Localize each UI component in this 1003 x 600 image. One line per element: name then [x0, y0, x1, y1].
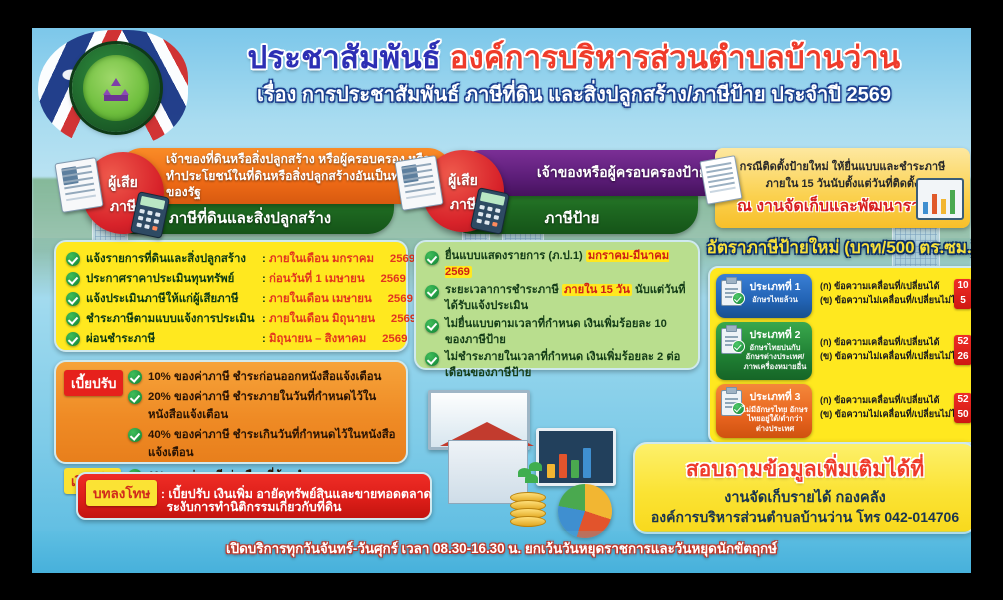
rate-label: (ก) ข้อความเคลื่อนที่/เปลี่ยนได้ [820, 280, 940, 294]
rate-value: 50 [954, 408, 971, 423]
new-sign-notice-box: กรณีติดตั้งป้ายใหม่ ให้ยื่นแบบและชำระภาษ… [715, 148, 970, 228]
schedule-year: 2569 [378, 313, 416, 325]
rate-rows-type-3: (ก) ข้อความเคลื่อนที่/เปลี่ยนได้ (ข) ข้อ… [820, 394, 970, 421]
contact-phone-line: องค์การบริหารส่วนตำบลบ้านว่าน โทร 042-01… [635, 507, 971, 529]
penalty-text: 20% ของค่าภาษี ชำระภายในวันที่กำหนดไว้ใน… [148, 388, 398, 424]
rate-item: (ก) ข้อความเคลื่อนที่/เปลี่ยนได้ [820, 394, 970, 408]
penalty-text: 40% ของค่าภาษี ชำระเกินวันที่กำหนดไว้ในห… [148, 426, 398, 462]
schedule-year: 2569 [375, 293, 413, 305]
rate-value: 26 [954, 350, 971, 365]
sign-rule-pre: ยื่นแบบแสดงรายการ (ภ.ป.1) [445, 250, 586, 262]
list-item: ยื่นแบบแสดงรายการ (ภ.ป.1) มกราคม-มีนาคม … [425, 249, 689, 281]
check-icon [128, 390, 142, 404]
schedule-year: 2569 [369, 333, 407, 345]
list-item: ผ่อนชำระภาษี: มิถุนายน – สิงหาคม 2569 [66, 330, 396, 348]
contact-department: งานจัดเก็บรายได้ กองคลัง [635, 486, 971, 509]
schedule-when: ภายในเดือน มกราคม [269, 253, 374, 265]
check-icon [66, 292, 80, 306]
rate-item: (ข) ข้อความไม่เคลื่อนที่/เปลี่ยนไม่ได้ [820, 408, 970, 422]
sign-type-sub: อักษรไทยปนกับอักษรต่างประเทศ/ภาพเครื่องห… [742, 343, 808, 371]
title-part-1: ประชาสัมพันธ์ [248, 40, 441, 75]
poster-canvas: ประชาสัมพันธ์ องค์การบริหารส่วนตำบลบ้านว… [32, 28, 971, 573]
new-sign-notice-line1: กรณีติดตั้งป้ายใหม่ ให้ยื่นแบบและชำระภาษ… [723, 157, 962, 175]
rate-item: (ข) ข้อความไม่เคลื่อนที่/เปลี่ยนไม่ได้ [820, 294, 970, 308]
rate-item: (ก) ข้อความเคลื่อนที่/เปลี่ยนได้ [820, 280, 970, 294]
sign-tax-badge-group: ภาษีป้าย เจ้าของหรือผู้ครอบครองป้าย ผู้เ… [390, 146, 700, 238]
rate-values-type-3: 52 50 [954, 393, 971, 423]
schedule-year: 2569 [368, 273, 406, 285]
document-icon [54, 157, 103, 213]
rate-values-type-2: 52 26 [954, 335, 971, 365]
rate-value: 52 [954, 393, 971, 408]
schedule-when: ภายในเดือน มิถุนายน [269, 313, 375, 325]
sign-tax-description: เจ้าของหรือผู้ครอบครองป้าย [537, 163, 707, 182]
sign-type-title: ประเภทที่ 2 [742, 326, 808, 343]
rate-label: (ก) ข้อความเคลื่อนที่/เปลี่ยนได้ [820, 336, 940, 350]
coins-icon [510, 492, 546, 526]
check-icon [425, 251, 439, 265]
list-item: 40% ของค่าภาษี ชำระเกินวันที่กำหนดไว้ในห… [128, 426, 398, 462]
header: ประชาสัมพันธ์ องค์การบริหารส่วนตำบลบ้านว… [32, 28, 971, 146]
page-subtitle: เรื่อง การประชาสัมพันธ์ ภาษีที่ดิน และสิ… [184, 78, 964, 110]
document-icon [394, 155, 443, 211]
contact-heading: สอบถามข้อมูลเพิ่มเติมได้ที่ [635, 453, 971, 486]
schedule-when: ภายในเดือน เมษายน [269, 293, 372, 305]
rate-item: (ข) ข้อความไม่เคลื่อนที่/เปลี่ยนไม่ได้ [820, 350, 970, 364]
sign-rate-banner: อัตราภาษีป้ายใหม่ (บาท/500 ตร.ซม.) [708, 232, 971, 262]
schedule-label: ประกาศราคาประเมินทุนทรัพย์ [86, 270, 262, 288]
schedule-when: มิถุนายน – สิงหาคม [269, 333, 366, 345]
sign-type-sub: ไม่มีอักษรไทย อักษรไทยอยู่ใต้/ต่ำกว่าต่า… [742, 405, 808, 433]
sign-rate-table: ประเภทที่ 1 อักษรไทยล้วน (ก) ข้อความเคลื… [708, 266, 971, 444]
check-icon [128, 428, 142, 442]
list-item: ไม่ชำระภายในเวลาที่กำหนด เงินเพิ่มร้อยละ… [425, 350, 689, 382]
poster-root: ประชาสัมพันธ์ องค์การบริหารส่วนตำบลบ้านว… [0, 0, 1003, 600]
organization-emblem-icon [72, 44, 160, 132]
table-row-type-1: ประเภทที่ 1 อักษรไทยล้วน [716, 274, 812, 318]
list-item: ชำระภาษีตามแบบแจ้งการประเมิน: ภายในเดือน… [66, 310, 396, 328]
plant-icon [518, 460, 544, 488]
check-icon [128, 370, 142, 384]
sign-rule-highlight: ภายใน 15 วัน [562, 284, 632, 296]
rate-value: 5 [954, 294, 971, 309]
emblem-temple-glyph [99, 77, 133, 103]
rate-label: (ข) ข้อความไม่เคลื่อนที่/เปลี่ยนไม่ได้ [820, 408, 961, 422]
penalty-panel: เบี้ยปรับ 10% ของค่าภาษี ชำระก่อนออกหนัง… [54, 360, 408, 464]
footer-hours: เปิดบริการทุกวันจันทร์-วันศุกร์ เวลา 08.… [32, 538, 971, 559]
table-row-type-2: ประเภทที่ 2 อักษรไทยปนกับอักษรต่างประเทศ… [716, 322, 812, 380]
penalty-text: 10% ของค่าภาษี ชำระก่อนออกหนังสือแจ้งเตื… [148, 368, 381, 386]
rate-value: 52 [954, 335, 971, 350]
title-part-2: องค์การบริหารส่วนตำบลบ้านว่าน [450, 40, 901, 75]
rate-item: (ก) ข้อความเคลื่อนที่/เปลี่ยนได้ [820, 336, 970, 350]
schedule-label: ผ่อนชำระภาษี [86, 330, 262, 348]
rate-label: (ข) ข้อความไม่เคลื่อนที่/เปลี่ยนไม่ได้ [820, 350, 961, 364]
sign-rule-pre: ระยะเวลาการชำระภาษี [445, 284, 562, 296]
schedule-label: ชำระภาษีตามแบบแจ้งการประเมิน [86, 310, 262, 328]
schedule-year: 2569 [377, 253, 415, 265]
rate-values-type-1: 10 5 [954, 279, 971, 309]
list-item: แจ้งรายการที่ดินและสิ่งปลูกสร้าง: ภายในเ… [66, 250, 396, 268]
check-icon [66, 272, 80, 286]
land-schedule-panel: แจ้งรายการที่ดินและสิ่งปลูกสร้าง: ภายในเ… [54, 240, 408, 352]
sign-type-title: ประเภทที่ 1 [742, 278, 808, 295]
rate-value: 10 [954, 279, 971, 294]
rate-rows-type-2: (ก) ข้อความเคลื่อนที่/เปลี่ยนได้ (ข) ข้อ… [820, 336, 970, 363]
check-icon [66, 332, 80, 346]
sign-type-sub: อักษรไทยล้วน [742, 295, 808, 304]
rate-label: (ข) ข้อความไม่เคลื่อนที่/เปลี่ยนไม่ได้ [820, 294, 961, 308]
list-item: 10% ของค่าภาษี ชำระก่อนออกหนังสือแจ้งเตื… [128, 368, 398, 386]
check-icon [66, 252, 80, 266]
schedule-label: แจ้งรายการที่ดินและสิ่งปลูกสร้าง [86, 250, 262, 268]
sign-rule-text: ไม่ชำระภายในเวลาที่กำหนด เงินเพิ่มร้อยละ… [445, 350, 689, 382]
schedule-when: ก่อนวันที่ 1 เมษายน [269, 273, 365, 285]
list-item: ไม่ยื่นแบบตามเวลาที่กำหนด เงินเพิ่มร้อยล… [425, 317, 689, 349]
contact-box: สอบถามข้อมูลเพิ่มเติมได้ที่ งานจัดเก็บรา… [633, 442, 971, 534]
list-item: 20% ของค่าภาษี ชำระภายในวันที่กำหนดไว้ใน… [128, 388, 398, 424]
list-item: ประกาศราคาประเมินทุนทรัพย์: ก่อนวันที่ 1… [66, 270, 396, 288]
list-item: แจ้งประเมินภาษีให้แก่ผู้เสียภาษี: ภายในเ… [66, 290, 396, 308]
illustration-graphic [418, 388, 663, 538]
land-tax-badge-group: ภาษีที่ดินและสิ่งปลูกสร้าง เจ้าของที่ดิน… [54, 146, 394, 238]
check-icon [425, 352, 439, 366]
pie-chart-icon [558, 484, 612, 538]
check-icon [425, 319, 439, 333]
title-block: ประชาสัมพันธ์ องค์การบริหารส่วนตำบลบ้านว… [184, 42, 964, 110]
check-icon [66, 312, 80, 326]
sign-rule-text: ไม่ยื่นแบบตามเวลาที่กำหนด เงินเพิ่มร้อยล… [445, 317, 689, 349]
rate-label: (ก) ข้อความเคลื่อนที่/เปลี่ยนได้ [820, 394, 940, 408]
rate-rows-type-1: (ก) ข้อความเคลื่อนที่/เปลี่ยนได้ (ข) ข้อ… [820, 280, 970, 307]
monitor-icon [536, 428, 616, 486]
fine-tag: เบี้ยปรับ [64, 370, 123, 396]
punishment-bar: บทลงโทษ : เบี้ยปรับ เงินเพิ่ม อายัดทรัพย… [76, 472, 432, 520]
list-item: ระยะเวลาการชำระภาษี ภายใน 15 วัน นับแต่ว… [425, 283, 689, 315]
schedule-label: แจ้งประเมินภาษีให้แก่ผู้เสียภาษี [86, 290, 262, 308]
table-row-type-3: ประเภทที่ 3 ไม่มีอักษรไทย อักษรไทยอยู่ใต… [716, 384, 812, 438]
sign-type-title: ประเภทที่ 3 [742, 388, 808, 405]
punishment-line2: ระงับการทำนิติกรรมเกี่ยวกับที่ดิน [78, 498, 430, 517]
bar-chart-icon [916, 178, 964, 220]
check-icon [425, 285, 439, 299]
page-title: ประชาสัมพันธ์ องค์การบริหารส่วนตำบลบ้านว… [184, 42, 964, 75]
sign-rules-panel: ยื่นแบบแสดงรายการ (ภ.ป.1) มกราคม-มีนาคม … [414, 240, 700, 370]
